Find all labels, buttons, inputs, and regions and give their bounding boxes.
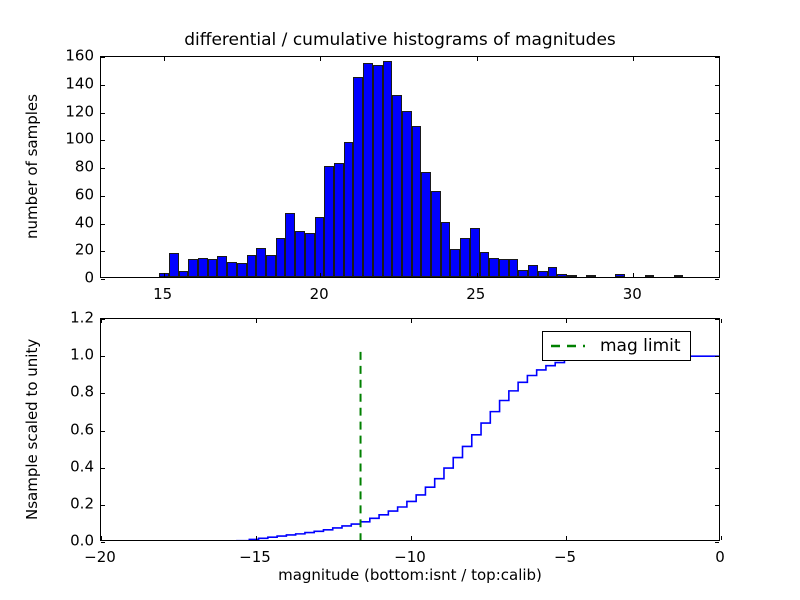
y-tick-mark (715, 468, 719, 469)
bottom-axis-x-tick-label: −10 (394, 550, 426, 565)
histogram-bar (412, 126, 422, 277)
y-tick-mark (101, 542, 105, 543)
y-tick-mark (715, 356, 719, 357)
histogram-bar (538, 271, 548, 277)
top-axis-y-tick-label: 40 (52, 215, 94, 230)
histogram-bar (373, 65, 383, 277)
top-axis-x-tick-label: 15 (153, 287, 172, 302)
histogram-bar (266, 255, 276, 277)
histogram-bar (586, 275, 596, 277)
histogram-bars-layer (101, 57, 719, 277)
top-axis-x-tick-label: 20 (310, 287, 329, 302)
histogram-bar (402, 111, 412, 278)
histogram-bar (674, 275, 684, 277)
histogram-bar (383, 61, 393, 277)
bottom-axis-x-tick-label: −15 (239, 550, 271, 565)
x-tick-mark (566, 536, 567, 540)
y-tick-mark (101, 85, 105, 86)
figure-title: differential / cumulative histograms of … (0, 30, 800, 50)
x-tick-mark (320, 57, 321, 61)
y-tick-mark (715, 319, 719, 320)
histogram-bar (256, 248, 266, 277)
histogram-bar (518, 270, 528, 277)
y-tick-mark (715, 431, 719, 432)
histogram-bar (305, 233, 315, 277)
y-tick-mark (715, 168, 719, 169)
bottom-axis-x-tick-label: −5 (554, 550, 576, 565)
bottom-axis-y-tick-label: 0.6 (52, 422, 94, 437)
histogram-bar (421, 172, 431, 277)
y-tick-mark (715, 505, 719, 506)
histogram-bar (276, 238, 286, 277)
y-tick-mark (715, 140, 719, 141)
y-tick-mark (101, 356, 105, 357)
x-tick-mark (411, 319, 412, 323)
histogram-bar (247, 255, 257, 277)
y-tick-mark (715, 279, 719, 280)
histogram-bar (208, 259, 218, 277)
y-tick-mark (101, 319, 105, 320)
x-tick-mark (256, 536, 257, 540)
y-tick-mark (101, 468, 105, 469)
top-axis-y-tick-label: 100 (52, 132, 94, 147)
x-tick-mark (633, 273, 634, 277)
differential-histogram-axes (100, 56, 720, 278)
y-tick-mark (715, 85, 719, 86)
y-tick-mark (715, 113, 719, 114)
x-tick-mark (101, 536, 102, 540)
y-tick-mark (101, 393, 105, 394)
bottom-axis-y-tick-label: 0.4 (52, 459, 94, 474)
cumulative-step-line (101, 356, 719, 540)
histogram-bar (315, 217, 325, 277)
histogram-bar (344, 142, 354, 277)
histogram-bar (353, 77, 363, 277)
x-tick-mark (164, 273, 165, 277)
y-tick-mark (101, 431, 105, 432)
histogram-bar (188, 259, 198, 277)
histogram-bar (334, 163, 344, 277)
top-axis-y-label: number of samples (25, 94, 40, 239)
top-axis-y-tick-label: 80 (52, 160, 94, 175)
bottom-axis-y-tick-label: 0.8 (52, 385, 94, 400)
matplotlib-figure: differential / cumulative histograms of … (0, 0, 800, 600)
histogram-bar (470, 228, 480, 277)
bottom-axis-x-tick-label: 0 (715, 550, 725, 565)
histogram-bar (499, 259, 509, 277)
top-axis-y-tick-label: 120 (52, 104, 94, 119)
histogram-bar (295, 231, 305, 277)
y-tick-mark (101, 224, 105, 225)
y-tick-mark (715, 224, 719, 225)
histogram-bar (441, 222, 451, 278)
top-axis-x-tick-label: 25 (466, 287, 485, 302)
histogram-bar (227, 262, 237, 277)
y-tick-mark (101, 196, 105, 197)
y-tick-mark (101, 251, 105, 252)
histogram-bar (489, 258, 499, 277)
histogram-bar (567, 275, 577, 277)
histogram-bar (285, 213, 295, 277)
bottom-axis-y-tick-label: 1.0 (52, 348, 94, 363)
histogram-bar (179, 271, 189, 277)
histogram-bar (509, 259, 519, 277)
bottom-axis-y-tick-label: 1.2 (52, 311, 94, 326)
y-tick-mark (715, 393, 719, 394)
legend-label-mag-limit: mag limit (600, 337, 681, 355)
bottom-axis-x-label: magnitude (bottom:isnt / top:calib) (100, 566, 720, 584)
y-tick-mark (101, 505, 105, 506)
y-tick-mark (715, 57, 719, 58)
histogram-bar (460, 238, 470, 277)
x-tick-mark (721, 319, 722, 323)
mag-limit-legend-swatch-icon (550, 339, 586, 353)
top-axis-y-tick-label: 60 (52, 187, 94, 202)
histogram-bar (324, 166, 334, 277)
histogram-bar (217, 256, 227, 277)
bottom-axis-y-label: Nsample scaled to unity (25, 339, 40, 520)
x-tick-mark (477, 273, 478, 277)
histogram-bar (645, 275, 655, 277)
y-tick-mark (101, 57, 105, 58)
cumulative-histogram-axes: mag limit (100, 318, 720, 541)
histogram-bar (615, 274, 625, 277)
y-tick-mark (101, 279, 105, 280)
x-tick-mark (411, 536, 412, 540)
x-tick-mark (477, 57, 478, 61)
x-tick-mark (721, 536, 722, 540)
x-tick-mark (633, 57, 634, 61)
top-axis-y-tick-label: 0 (52, 271, 94, 286)
histogram-bar (557, 274, 567, 277)
histogram-bar (363, 63, 373, 277)
histogram-bar (431, 191, 441, 277)
top-axis-y-tick-label: 20 (52, 243, 94, 258)
y-tick-mark (101, 113, 105, 114)
y-tick-mark (101, 140, 105, 141)
bottom-axis-x-tick-label: −20 (84, 550, 116, 565)
histogram-bar (198, 258, 208, 277)
histogram-bar (450, 249, 460, 277)
y-tick-mark (715, 196, 719, 197)
bottom-axis-y-tick-label: 0.0 (52, 534, 94, 549)
histogram-bar (528, 265, 538, 277)
top-axis-y-tick-label: 160 (52, 49, 94, 64)
x-tick-mark (256, 319, 257, 323)
top-axis-x-tick-label: 30 (623, 287, 642, 302)
histogram-bar (548, 267, 558, 277)
x-tick-mark (320, 273, 321, 277)
top-axis-y-tick-label: 140 (52, 76, 94, 91)
histogram-bar (169, 253, 179, 277)
y-tick-mark (101, 168, 105, 169)
y-tick-mark (715, 251, 719, 252)
histogram-bar (392, 95, 402, 277)
bottom-axis-y-tick-label: 0.2 (52, 496, 94, 511)
y-tick-mark (715, 542, 719, 543)
legend[interactable]: mag limit (542, 331, 691, 361)
histogram-bar (237, 263, 247, 277)
x-tick-mark (164, 57, 165, 61)
histogram-bar (480, 252, 490, 277)
x-tick-mark (566, 319, 567, 323)
